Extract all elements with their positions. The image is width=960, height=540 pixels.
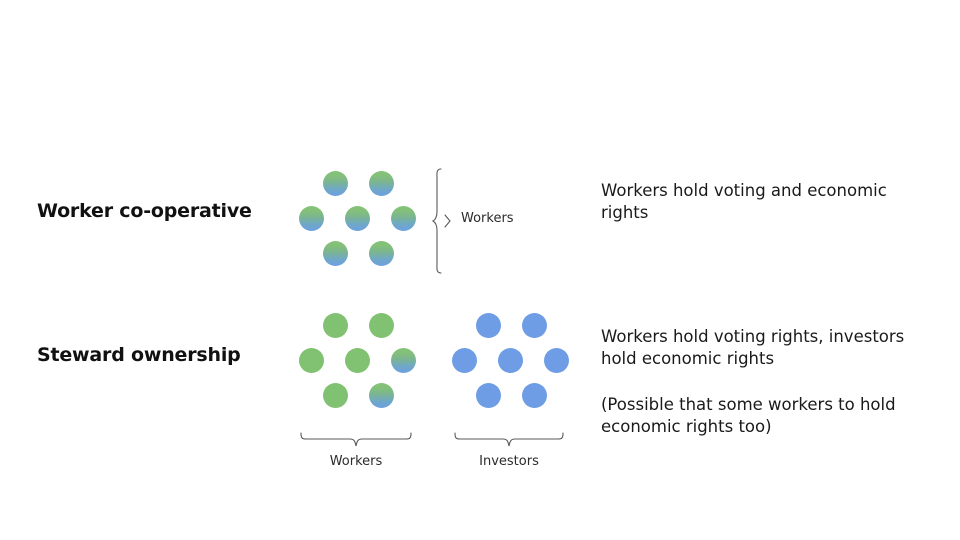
dot-cluster-coop-workers	[297, 168, 415, 276]
dot-worker	[299, 206, 324, 231]
dot-worker	[345, 348, 370, 373]
dot-cluster-steward-investors	[450, 310, 568, 418]
brace-label-coop-workers: Workers	[461, 211, 514, 226]
brace-coop-workers	[432, 168, 452, 274]
dot-investor	[522, 313, 547, 338]
dot-worker	[323, 313, 348, 338]
dot-worker	[369, 241, 394, 266]
dot-investor	[498, 348, 523, 373]
slide-canvas: Worker co-operative Workers Workers hold…	[0, 0, 960, 540]
dot-investor	[522, 383, 547, 408]
description-steward-ownership-note: (Possible that some workers to hold econ…	[601, 394, 921, 438]
dot-worker	[323, 171, 348, 196]
dot-worker	[323, 383, 348, 408]
dot-investor	[476, 383, 501, 408]
dot-worker	[299, 348, 324, 373]
dot-worker-with-economic-rights	[391, 348, 416, 373]
dot-worker	[345, 206, 370, 231]
dot-worker	[323, 241, 348, 266]
brace-label-steward-workers: Workers	[300, 454, 412, 469]
brace-label-steward-investors: Investors	[454, 454, 564, 469]
dot-investor	[452, 348, 477, 373]
dot-investor	[476, 313, 501, 338]
dot-worker	[369, 313, 394, 338]
description-steward-ownership: Workers hold voting rights, investors ho…	[601, 326, 921, 370]
brace-steward-investors	[454, 432, 564, 448]
description-worker-cooperative: Workers hold voting and economic rights	[601, 180, 921, 224]
row-title-worker-cooperative: Worker co-operative	[37, 200, 252, 222]
dot-worker-with-economic-rights	[369, 383, 394, 408]
brace-steward-workers	[300, 432, 412, 448]
dot-investor	[544, 348, 569, 373]
dot-cluster-steward-workers	[297, 310, 415, 418]
row-title-steward-ownership: Steward ownership	[37, 344, 241, 366]
dot-worker	[391, 206, 416, 231]
dot-worker	[369, 171, 394, 196]
